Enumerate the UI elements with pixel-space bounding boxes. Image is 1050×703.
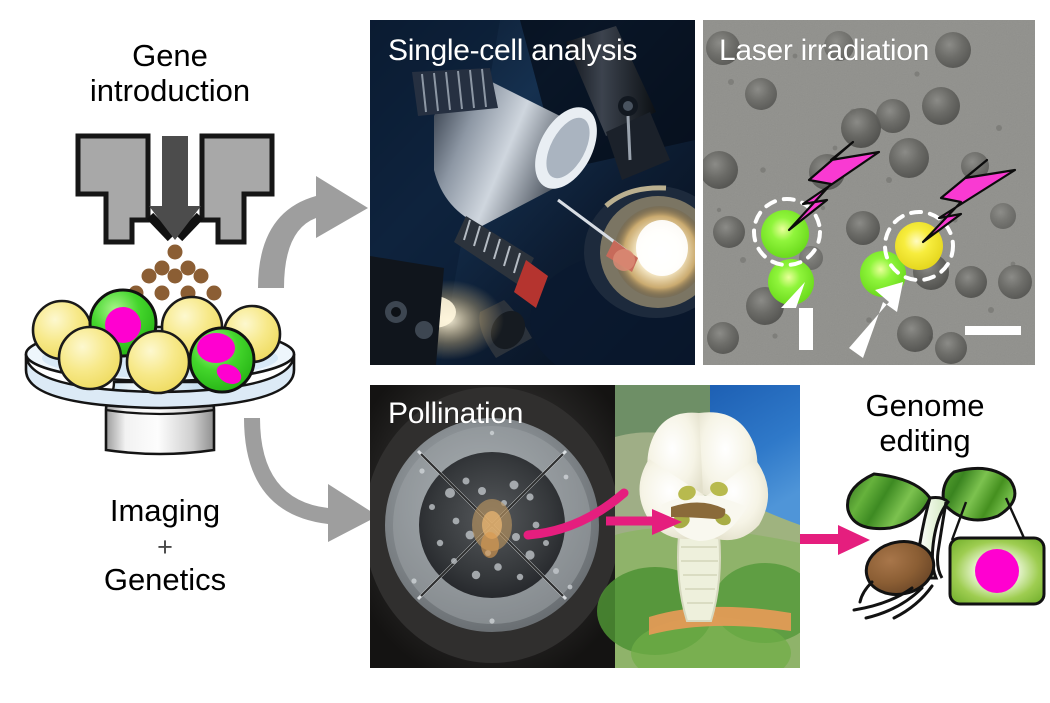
scale-bar bbox=[965, 326, 1021, 335]
panel-single-cell-analysis: Single-cell analysis bbox=[370, 20, 695, 365]
panel-pollination: Pollination bbox=[370, 385, 800, 668]
gene-introduction-line2: introduction bbox=[90, 73, 250, 108]
panel-laser-irradiation: Laser irradiation bbox=[703, 20, 1035, 365]
single-cell-analysis-photo bbox=[370, 20, 695, 365]
stage-block bbox=[370, 256, 444, 365]
genome-editing-label: Genome editing bbox=[800, 388, 1050, 459]
cotyledon-right bbox=[943, 468, 1015, 520]
genetics-label: Genetics bbox=[104, 562, 226, 597]
flower-tube bbox=[678, 535, 720, 621]
genome-editing-line1: Genome bbox=[866, 388, 985, 423]
cell-untransformed bbox=[59, 327, 121, 389]
gene-introduction-line1: Gene bbox=[132, 38, 208, 73]
laser-irradiation-micrograph bbox=[703, 20, 1035, 365]
genome-edited-seedling-illustration bbox=[838, 452, 1050, 620]
genetics-label-wrap: Genetics bbox=[0, 562, 330, 597]
panel-title-single-cell-analysis: Single-cell analysis bbox=[388, 34, 637, 68]
gene-gun-left-block bbox=[78, 136, 148, 242]
panel-title-laser-irradiation: Laser irradiation bbox=[719, 34, 929, 68]
cell-untransformed bbox=[127, 331, 189, 393]
plus-label: + bbox=[157, 532, 173, 562]
graphical-abstract-figure: Gene introduction bbox=[0, 0, 1050, 703]
imaging-label: Imaging bbox=[110, 493, 220, 528]
magnified-cell-nucleus bbox=[975, 549, 1019, 593]
pink-arrow-to-stigma-icon bbox=[606, 503, 696, 543]
gene-introduction-label: Gene introduction bbox=[0, 38, 340, 109]
cells-front-row bbox=[59, 327, 254, 393]
upper-adjust-ring bbox=[412, 68, 498, 116]
nucleus-large bbox=[197, 333, 235, 363]
cell-transformed-dividing bbox=[190, 328, 254, 392]
gray-arrow-up-right-icon bbox=[242, 152, 382, 292]
cotyledon-left bbox=[848, 474, 930, 529]
panel-title-pollination: Pollination bbox=[388, 397, 523, 431]
